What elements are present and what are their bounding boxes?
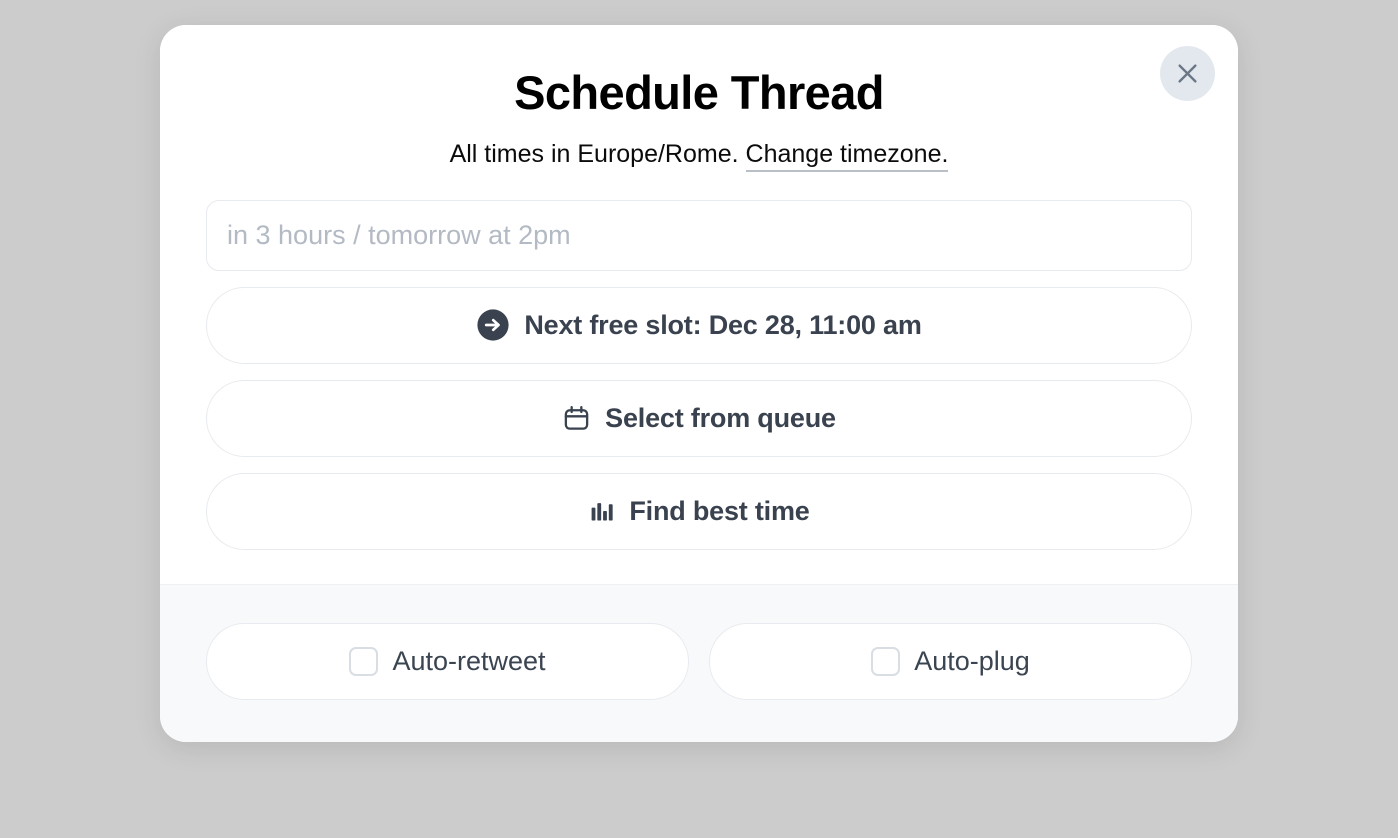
auto-retweet-checkbox[interactable] bbox=[349, 647, 378, 676]
schedule-thread-modal: Schedule Thread All times in Europe/Rome… bbox=[160, 25, 1238, 742]
schedule-time-input[interactable] bbox=[206, 200, 1192, 271]
next-free-slot-button[interactable]: Next free slot: Dec 28, 11:00 am bbox=[206, 287, 1192, 364]
calendar-icon bbox=[562, 404, 591, 433]
modal-body: Schedule Thread All times in Europe/Rome… bbox=[160, 25, 1238, 584]
select-from-queue-button[interactable]: Select from queue bbox=[206, 380, 1192, 457]
arrow-right-circle-icon bbox=[476, 308, 510, 342]
timezone-notice-text: All times in Europe/Rome. bbox=[450, 140, 739, 168]
page-title: Schedule Thread bbox=[206, 67, 1192, 120]
timezone-notice: All times in Europe/Rome. Change timezon… bbox=[206, 139, 1192, 169]
auto-plug-checkbox[interactable] bbox=[871, 647, 900, 676]
modal-footer: Auto-retweet Auto-plug bbox=[160, 584, 1238, 742]
find-best-time-button[interactable]: Find best time bbox=[206, 473, 1192, 550]
bar-chart-icon bbox=[588, 498, 615, 525]
auto-plug-toggle[interactable]: Auto-plug bbox=[709, 623, 1192, 700]
change-timezone-link[interactable]: Change timezone. bbox=[746, 140, 949, 172]
close-icon bbox=[1174, 60, 1201, 87]
select-from-queue-label: Select from queue bbox=[605, 403, 836, 434]
auto-plug-label: Auto-plug bbox=[914, 646, 1030, 677]
close-button[interactable] bbox=[1160, 46, 1215, 101]
auto-retweet-toggle[interactable]: Auto-retweet bbox=[206, 623, 689, 700]
find-best-time-label: Find best time bbox=[629, 496, 809, 527]
auto-retweet-label: Auto-retweet bbox=[392, 646, 545, 677]
next-free-slot-label: Next free slot: Dec 28, 11:00 am bbox=[524, 310, 921, 341]
